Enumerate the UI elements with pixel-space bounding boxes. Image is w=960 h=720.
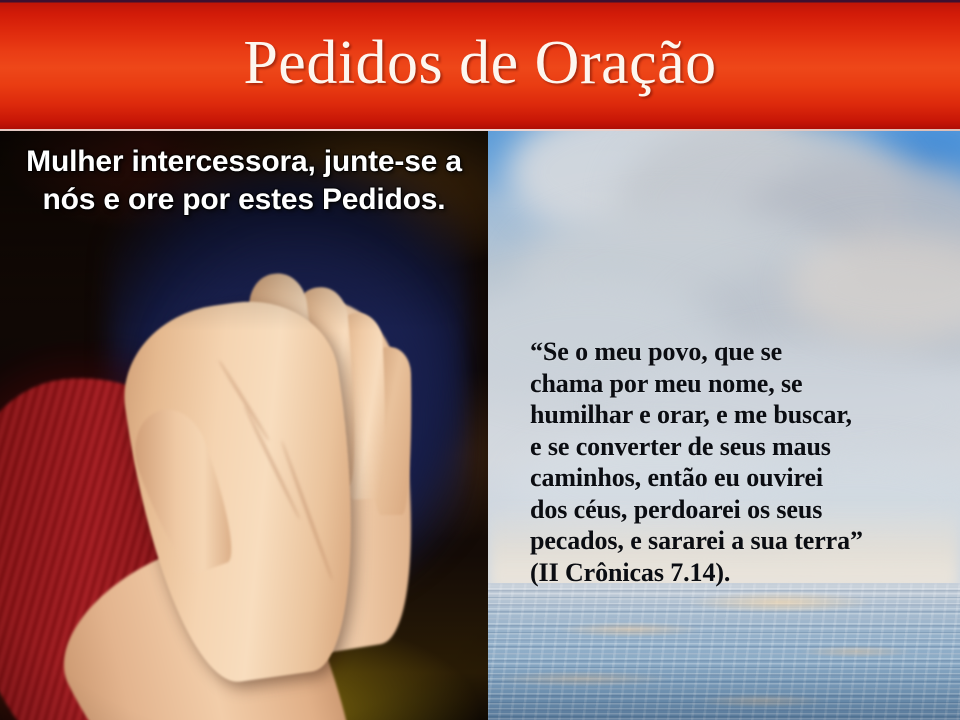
page-title: Pedidos de Oração (0, 27, 960, 99)
caption-line-1: Mulher intercessora, junte-se (26, 145, 437, 178)
verse-line-3: humilhar e orar, e me buscar, (530, 399, 950, 431)
verse-line-7: pecados, e sararei a sua terra” (530, 525, 950, 557)
verse-line-4: e se converter de seus maus (530, 431, 950, 463)
caption-line-3: Pedidos. (322, 183, 445, 216)
verse-reference-line: (II Crônicas 7.14). (530, 557, 950, 589)
verse-line-6: dos céus, perdoarei os seus (530, 494, 950, 526)
water-vignette (488, 583, 960, 720)
praying-hands-image: Mulher intercessora, junte-se a nós e or… (0, 131, 488, 720)
invitation-caption: Mulher intercessora, junte-se a nós e or… (10, 143, 478, 219)
verse-line-2: chama por meu nome, se (530, 368, 950, 400)
verse-line-5: caminhos, então eu ouvirei (530, 462, 950, 494)
sky-water-image: “Se o meu povo, que se chama por meu nom… (488, 131, 960, 720)
verse-line-1: “Se o meu povo, que se (530, 336, 950, 368)
title-banner: Pedidos de Oração (0, 0, 960, 131)
bible-verse: “Se o meu povo, que se chama por meu nom… (530, 336, 950, 588)
presentation-slide: Pedidos de Oração Mulher intercessora, j… (0, 0, 960, 720)
